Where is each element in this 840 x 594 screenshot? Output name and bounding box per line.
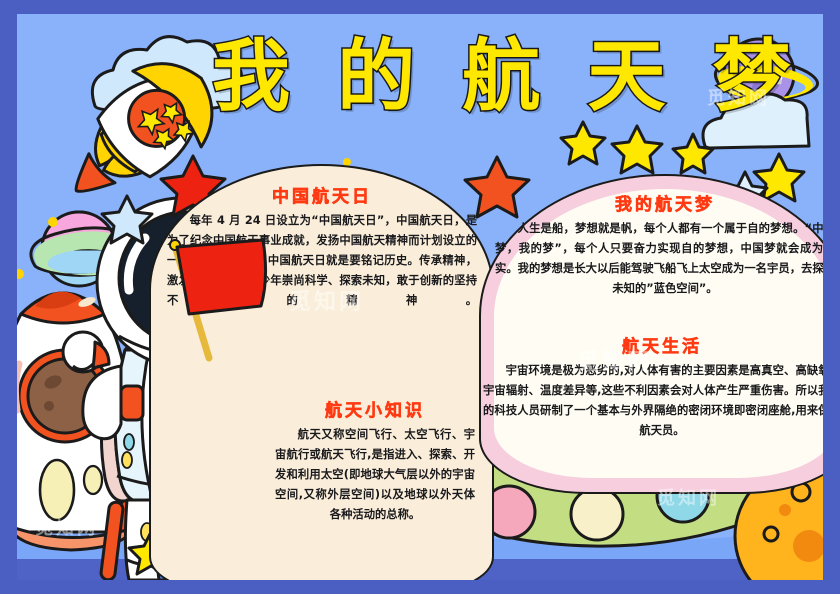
section-my-space-dream: 我的航天梦 人生是船，梦想就是帆，每个人都有一个属于自的梦想。“中国梦，我的梦”… bbox=[495, 190, 823, 299]
section-body-my-space-dream: 人生是船，梦想就是帆，每个人都有一个属于自的梦想。“中国梦，我的梦”，每个人只要… bbox=[495, 219, 823, 299]
section-body-space-knowledge: 航天又称空间飞行、太空飞行、宇宙航行或航天飞行,是指进入、探索、开发和利用太空(… bbox=[275, 425, 475, 525]
section-body-space-life: 宇宙环境是极为恶劣的,对人体有害的主要因素是高真空、高缺氧、宇宙辐射、温度差异等… bbox=[483, 361, 823, 441]
section-heading-china-space-day: 中国航天日 bbox=[167, 182, 477, 207]
section-space-life: 航天生活 宇宙环境是极为恶劣的,对人体有害的主要因素是高真空、高缺氧、宇宙辐射、… bbox=[483, 332, 823, 441]
section-space-knowledge: 航天小知识 航天又称空间飞行、太空飞行、宇宙航行或航天飞行,是指进入、探索、开发… bbox=[275, 396, 475, 525]
poster-paper: 中国航天日 每年 4 月 24 日设立为“中国航天日”，中国航天日，是为了纪念中… bbox=[17, 14, 823, 580]
section-body-china-space-day: 每年 4 月 24 日设立为“中国航天日”，中国航天日，是为了纪念中国航天事业成… bbox=[167, 211, 477, 311]
poster-canvas: 中国航天日 每年 4 月 24 日设立为“中国航天日”，中国航天日，是为了纪念中… bbox=[0, 0, 840, 594]
section-china-space-day: 中国航天日 每年 4 月 24 日设立为“中国航天日”，中国航天日，是为了纪念中… bbox=[167, 182, 477, 311]
section-heading-my-space-dream: 我的航天梦 bbox=[495, 190, 823, 215]
section-heading-space-life: 航天生活 bbox=[483, 332, 823, 357]
section-heading-space-knowledge: 航天小知识 bbox=[275, 396, 475, 421]
page-title: 我 的 航 天 梦 bbox=[212, 38, 682, 116]
